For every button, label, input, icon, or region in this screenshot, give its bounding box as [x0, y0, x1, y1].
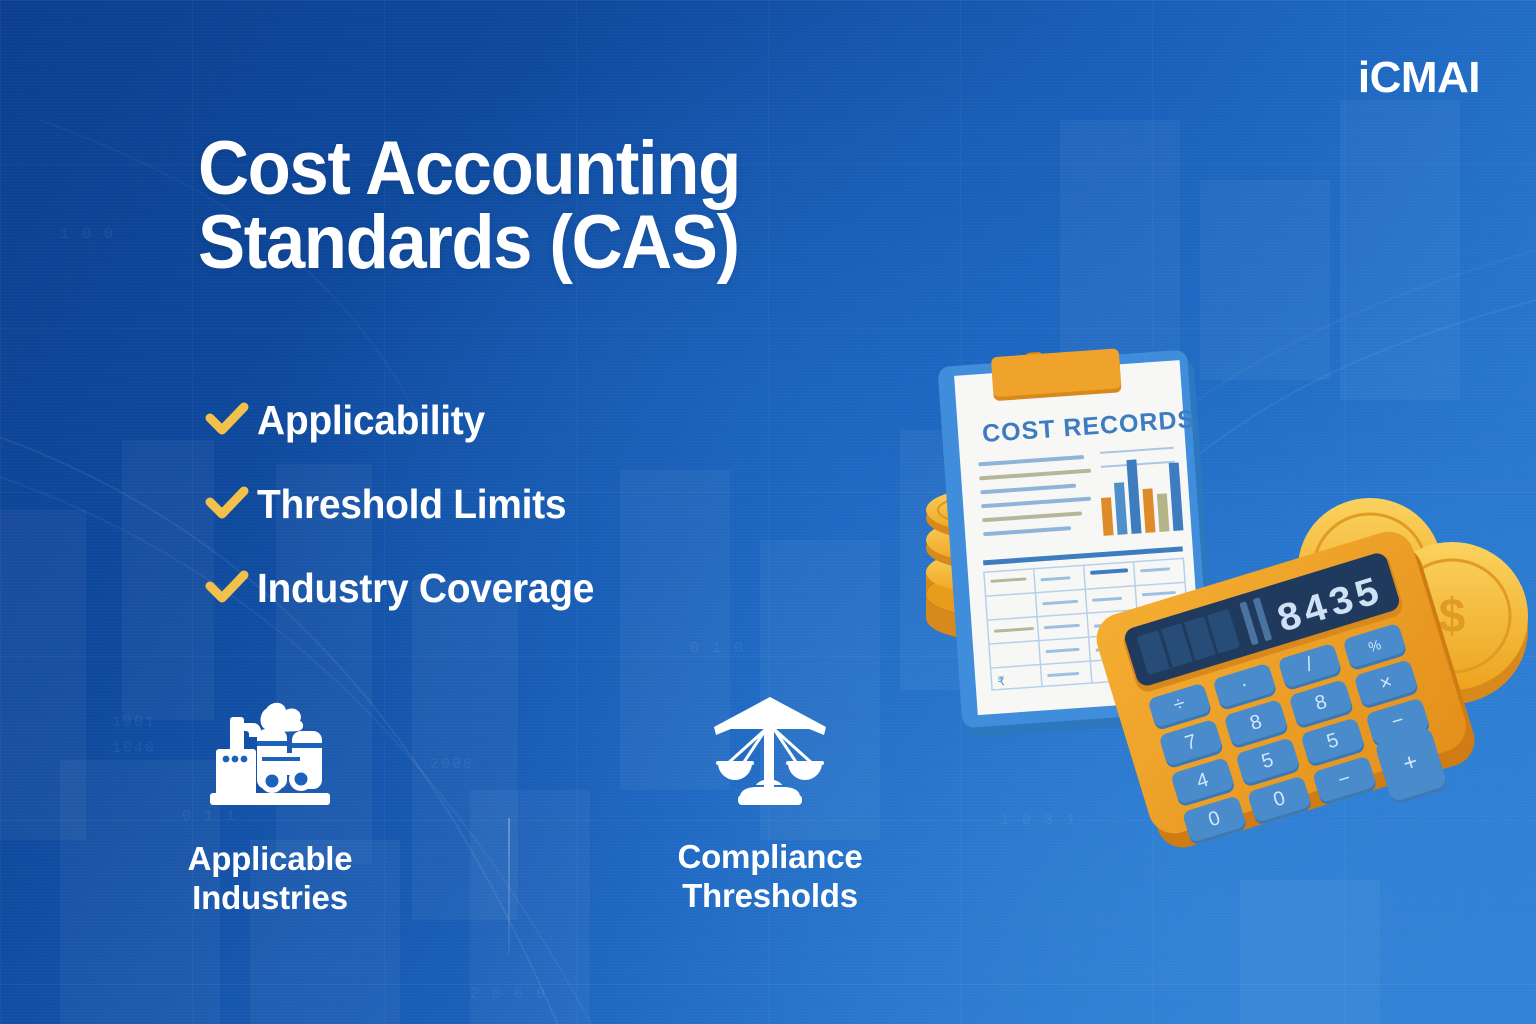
feature-label-line-1: Compliance: [600, 838, 940, 877]
brand-logo: iCMAI: [1358, 56, 1480, 100]
feature-label-line-1: Applicable: [100, 840, 440, 879]
page-title: Cost Accounting Standards (CAS): [198, 132, 942, 281]
bullet-item-industry-coverage: Industry Coverage: [205, 546, 612, 630]
feature-label-line-2: Industries: [100, 879, 440, 918]
scales-icon: [600, 688, 940, 818]
check-icon: [205, 570, 257, 606]
feature-label: Applicable Industries: [100, 840, 440, 918]
feature-bullet-list: Applicability Threshold Limits Industry …: [205, 378, 612, 630]
illustration-cost-records: $ $ $: [900, 330, 1536, 860]
ghost-number: 1 0 0: [60, 226, 115, 243]
feature-applicable-industries: Applicable Industries: [100, 690, 440, 918]
bullet-label: Industry Coverage: [257, 565, 594, 612]
bullet-item-applicability: Applicability: [205, 378, 612, 462]
ghost-number: 2 0 6 0: [470, 986, 547, 1003]
check-icon: [205, 486, 257, 522]
ghost-number: 0 1 0: [690, 640, 745, 657]
feature-label: Compliance Thresholds: [600, 838, 940, 916]
title-line-1: Cost Accounting: [198, 126, 740, 211]
title-line-2: Standards (CAS): [198, 206, 942, 280]
table-currency-mark: ₹: [997, 674, 1006, 689]
feature-compliance-thresholds: Compliance Thresholds: [600, 688, 940, 916]
bullet-label: Applicability: [257, 397, 485, 444]
poster-canvas: 1901 1040 2000 1 0 0 0 1 1 2 0 6 0 1 0 3…: [0, 0, 1536, 1024]
bullet-label: Threshold Limits: [257, 481, 566, 528]
check-icon: [205, 402, 257, 438]
feature-label-line-2: Thresholds: [600, 877, 940, 916]
factory-icon: [100, 690, 440, 820]
feature-divider: [508, 818, 510, 954]
bullet-item-threshold-limits: Threshold Limits: [205, 462, 612, 546]
